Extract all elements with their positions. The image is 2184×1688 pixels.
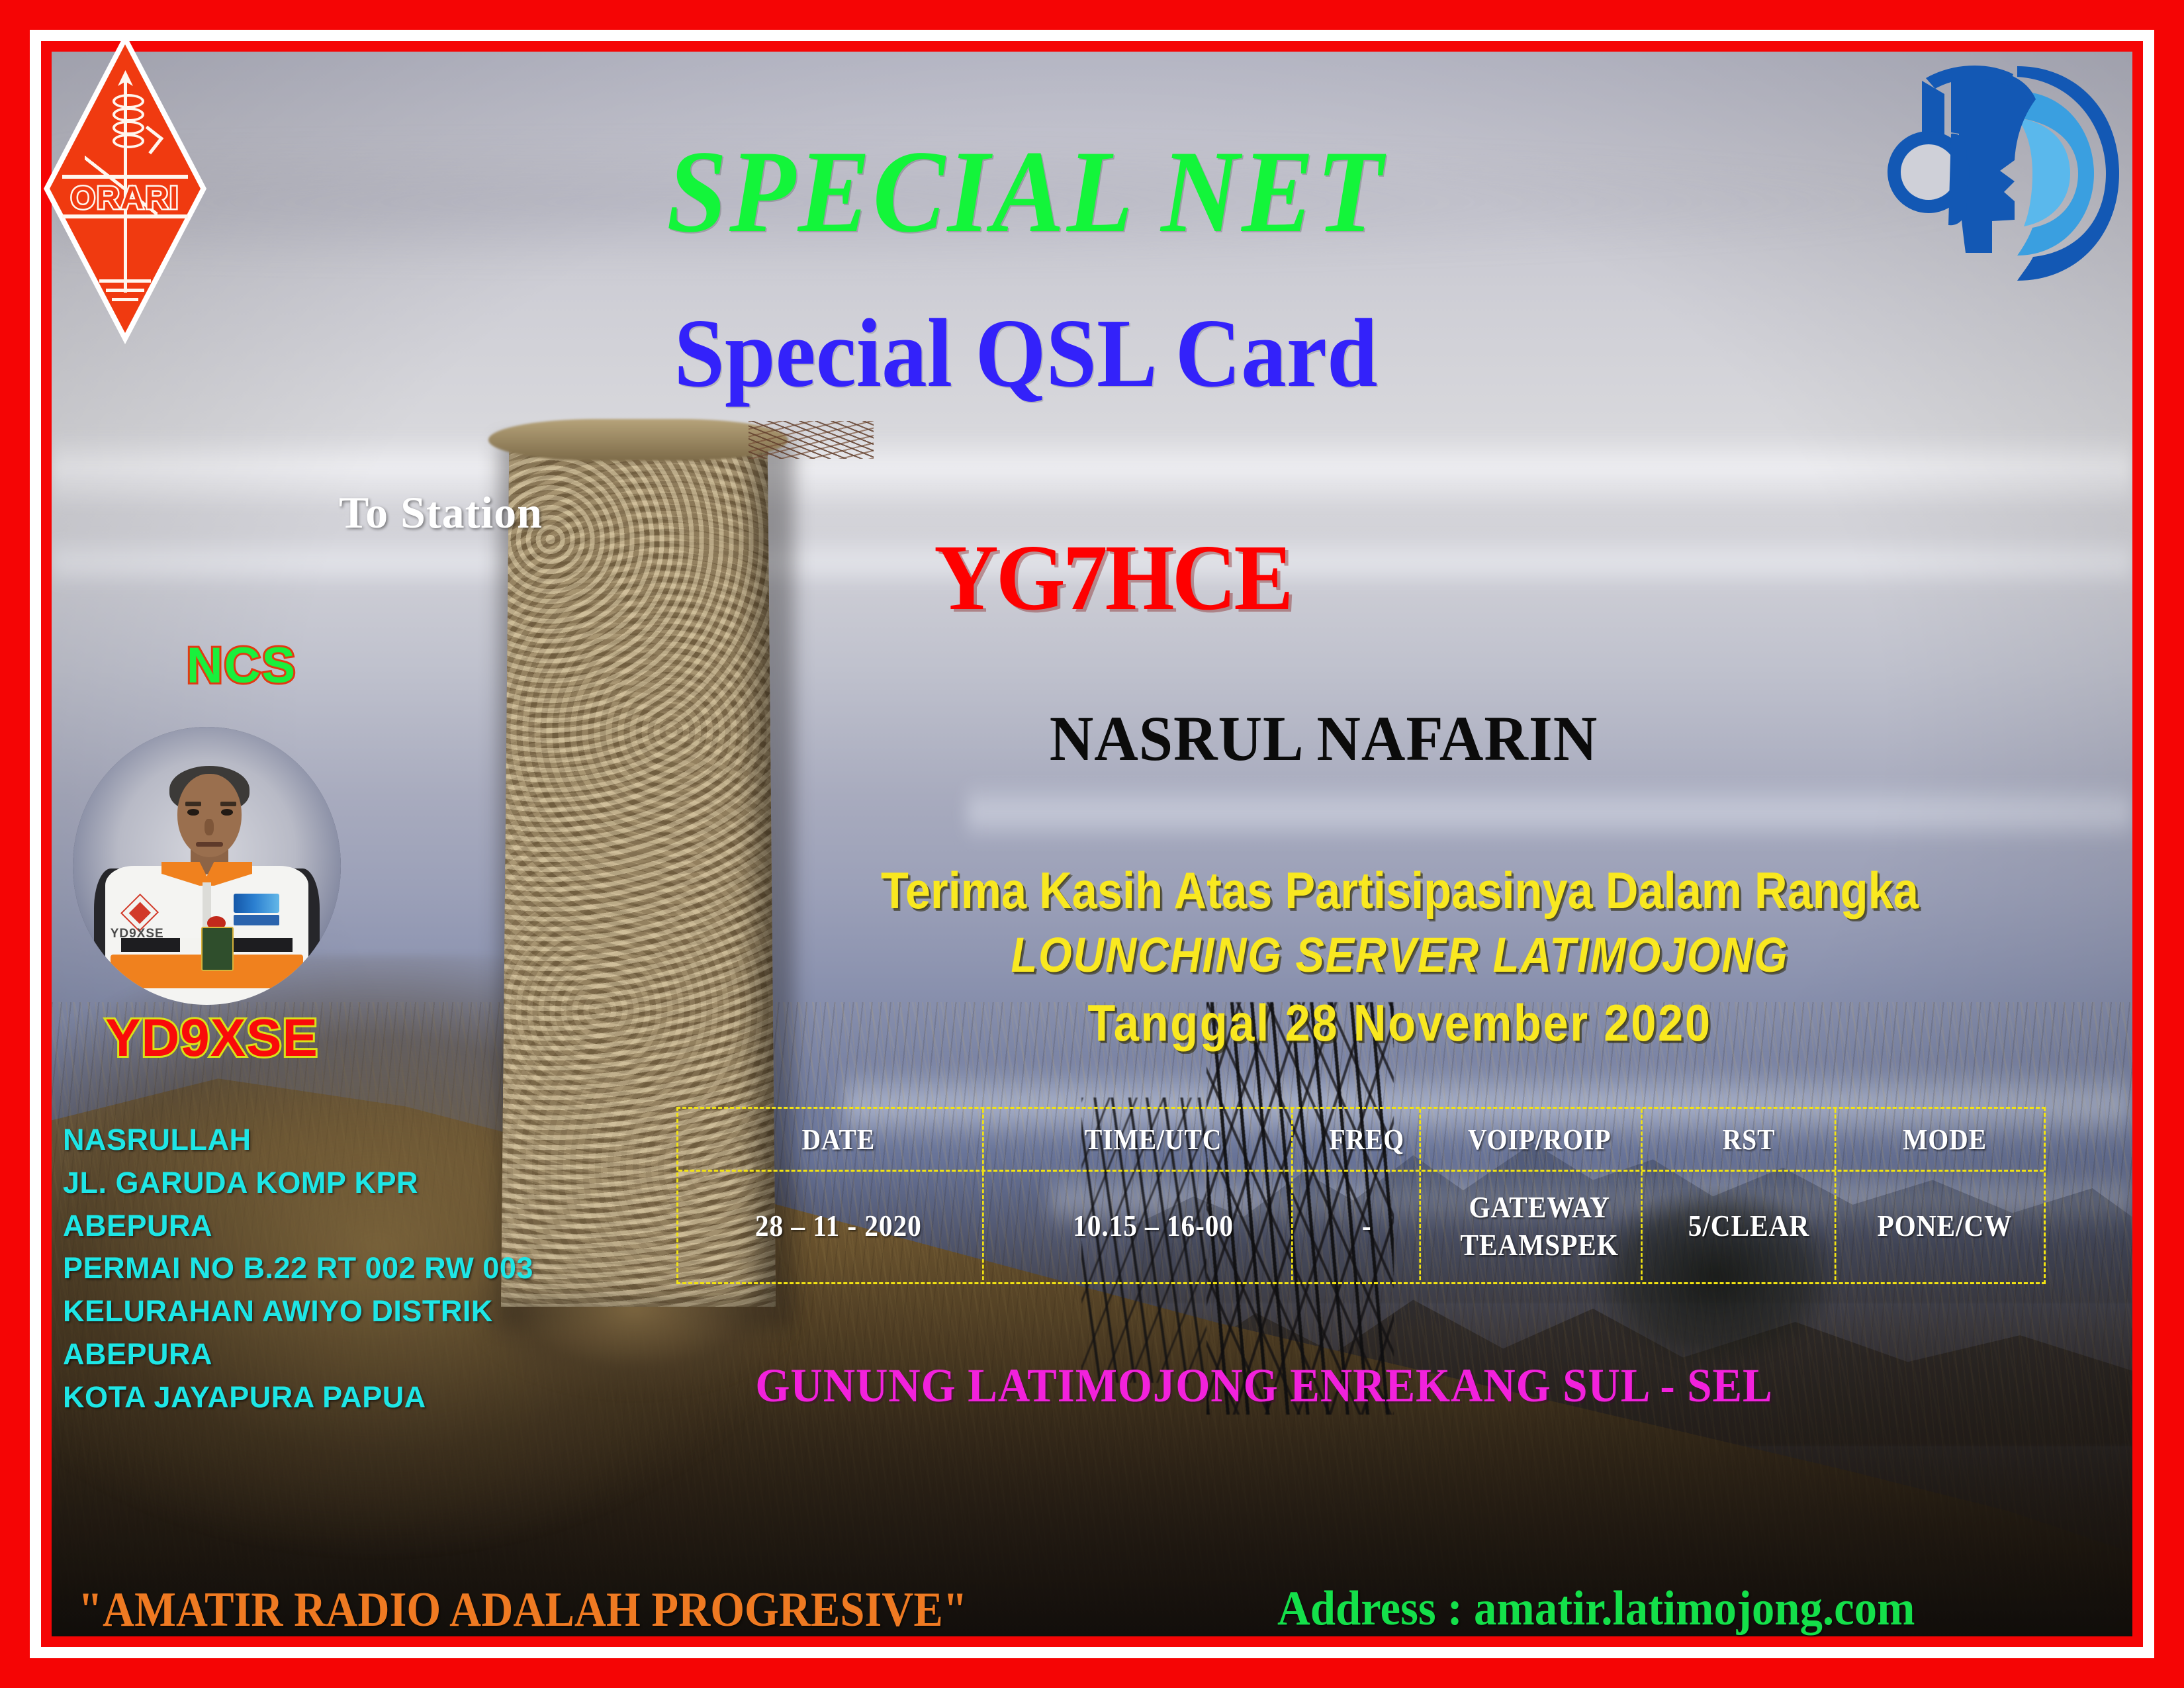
- station-callsign: YG7HCE: [934, 523, 1720, 632]
- overlay-layer: ORARI SPECIAL NET Special QSL Card To St…: [0, 0, 2184, 1688]
- event-name: LOUNCHING SERVER LATIMOJONG: [815, 927, 1985, 983]
- page-subtitle: Special QSL Card: [466, 305, 1586, 402]
- column-header-date: DATE: [694, 1109, 984, 1170]
- ncs-label: NCS: [142, 637, 341, 694]
- mailing-address: NASRULLAH JL. GARUDA KOMP KPR ABEPURA PE…: [63, 1119, 533, 1419]
- orari-bar-top: [62, 175, 188, 179]
- antenna-coil-icon: [113, 107, 144, 122]
- cell-voip-line2: TEAMSPEK: [1461, 1228, 1619, 1262]
- to-station-label: To Station: [339, 487, 543, 539]
- column-header-freq: FREQ: [1314, 1109, 1421, 1170]
- cell-time: 10.15 – 16-00: [1016, 1172, 1293, 1280]
- antenna-coil-icon: [113, 120, 144, 135]
- page-title: SPECIAL NET: [472, 132, 1580, 250]
- location-text: GUNUNG LATIMOJONG ENREKANG SUL - SEL: [680, 1358, 1849, 1413]
- cell-mode: PONE/CW: [1856, 1172, 2034, 1280]
- ground-symbol-icon: [99, 279, 151, 283]
- qsl-card: ORARI SPECIAL NET Special QSL Card To St…: [0, 0, 2184, 1688]
- qso-table: DATE TIME/UTC FREQ VOIP/ROIP RST MODE 28…: [676, 1107, 2046, 1284]
- cell-voip: GATEWAY TEAMSPEK: [1438, 1172, 1643, 1280]
- address-line: PERMAI NO B.22 RT 002 RW 003: [63, 1247, 533, 1290]
- operator-photo: YD9XSE: [73, 727, 341, 1005]
- address-line: ABEPURA: [63, 1205, 533, 1248]
- column-header-time: TIME/UTC: [1016, 1109, 1293, 1170]
- website-address: Address : amatir.latimojong.com: [1277, 1581, 1915, 1637]
- orari-bar-bottom: [62, 214, 188, 218]
- table-header-row: DATE TIME/UTC FREQ VOIP/ROIP RST MODE: [678, 1109, 2044, 1172]
- ground-symbol-icon: [106, 289, 144, 292]
- cell-freq: -: [1314, 1172, 1421, 1280]
- photo-uniform-callsign: YD9XSE: [111, 927, 164, 941]
- address-line: KELURAHAN AWIYO DISTRIK: [63, 1290, 533, 1333]
- antenna-coil-icon: [113, 94, 144, 109]
- cell-date: 28 – 11 - 2020: [694, 1172, 984, 1280]
- address-line: KOTA JAYAPURA PAPUA: [63, 1376, 533, 1419]
- ncs-callsign: YD9XSE: [73, 1008, 351, 1068]
- address-line: JL. GARUDA KOMP KPR: [63, 1162, 533, 1205]
- headset-profile-logo: [1888, 54, 2126, 293]
- address-line: ABEPURA: [63, 1333, 533, 1376]
- table-row: 28 – 11 - 2020 10.15 – 16-00 - GATEWAY T…: [678, 1172, 2044, 1280]
- thanks-line: Terima Kasih Atas Partisipasinya Dalam R…: [815, 861, 1985, 921]
- column-header-voip: VOIP/ROIP: [1438, 1109, 1643, 1170]
- address-line: NASRULLAH: [63, 1119, 533, 1162]
- slogan-text: "AMATIR RADIO ADALAH PROGRESIVE": [78, 1582, 968, 1638]
- cell-voip-line1: GATEWAY: [1469, 1190, 1610, 1224]
- cell-rst: 5/CLEAR: [1664, 1172, 1837, 1280]
- column-header-rst: RST: [1664, 1109, 1837, 1170]
- ground-symbol-icon: [112, 298, 138, 301]
- operator-name: NASRUL NAFARIN: [879, 702, 1768, 775]
- column-header-mode: MODE: [1856, 1109, 2034, 1170]
- orari-wordmark: ORARI: [44, 180, 206, 216]
- event-date: Tanggal 28 November 2020: [815, 993, 1985, 1053]
- orari-logo: ORARI: [44, 33, 206, 344]
